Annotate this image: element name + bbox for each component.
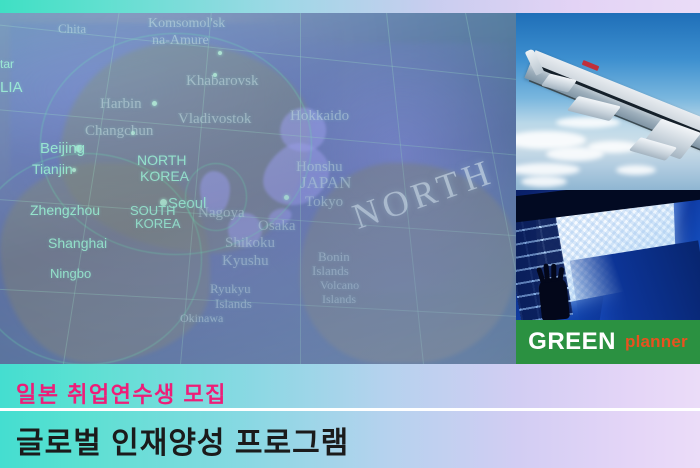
image-collage: ChitaKomsomol'skna-AmureKhabarovskLIAtar… xyxy=(0,13,700,364)
right-photo-column: GREEN planner xyxy=(516,13,700,364)
headline-subtitle: 일본 취업연수생 모집 xyxy=(16,377,227,409)
cloud xyxy=(521,176,567,187)
globe-map-photo: ChitaKomsomol'skna-AmureKhabarovskLIAtar… xyxy=(0,13,516,364)
finger xyxy=(557,267,564,282)
headline-divider-rule xyxy=(0,408,700,411)
headline-title: 글로벌 인재양성 프로그램 xyxy=(16,418,349,462)
shadow-haze-overlay xyxy=(0,13,516,364)
cloud xyxy=(516,163,580,176)
airplane-wing-photo xyxy=(516,13,700,190)
cloud xyxy=(616,165,656,175)
blue-window-photo xyxy=(516,190,700,320)
hand-silhouette xyxy=(538,277,570,320)
logo-primary-text: GREEN xyxy=(528,328,616,356)
green-planner-logo[interactable]: GREEN planner xyxy=(516,320,700,364)
finger xyxy=(551,264,556,282)
logo-secondary-text: planner xyxy=(625,332,688,352)
promotional-banner: ChitaKomsomol'skna-AmureKhabarovskLIAtar… xyxy=(0,0,700,468)
top-gradient-strip xyxy=(0,0,700,13)
headline-banner: 일본 취업연수생 모집 글로벌 인재양성 프로그램 xyxy=(0,364,700,468)
